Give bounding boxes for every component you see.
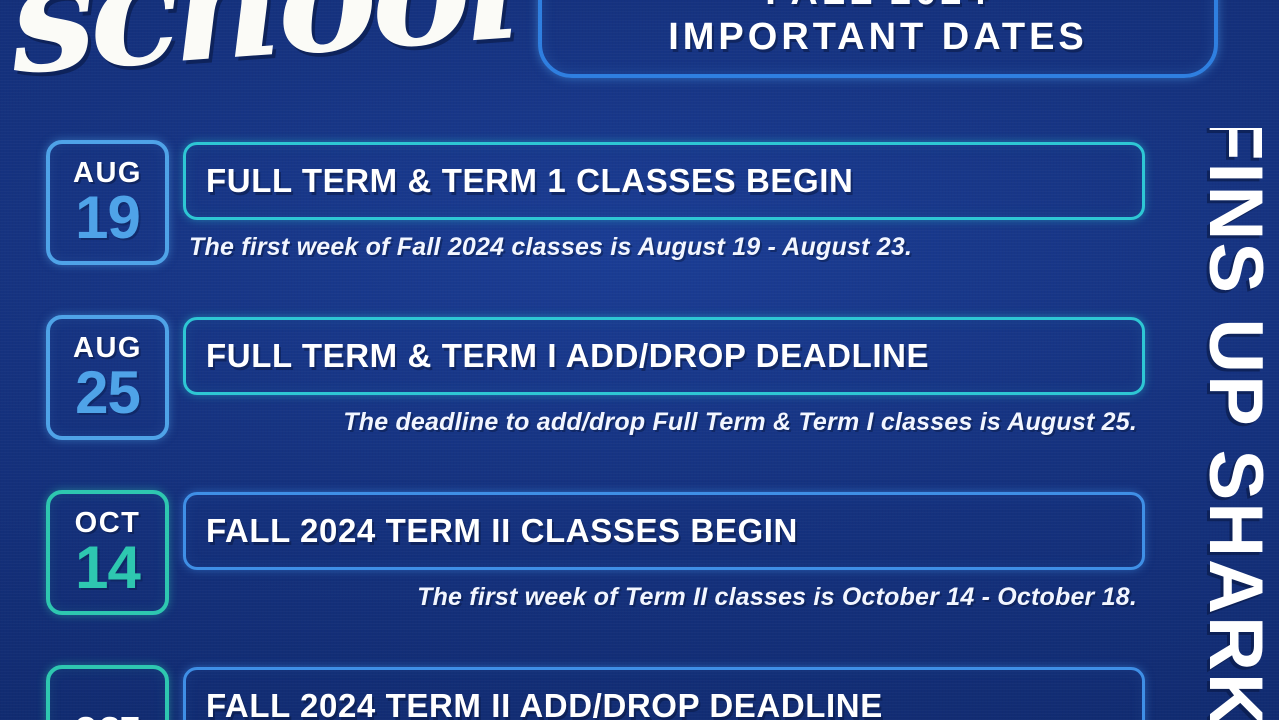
date-description: The first week of Fall 2024 classes is A… xyxy=(183,233,1145,262)
badge-day: 19 xyxy=(75,188,140,248)
date-row: OCT FALL 2024 TERM II ADD/DROP DEADLINE xyxy=(0,665,1145,720)
date-title: FALL 2024 TERM II CLASSES BEGIN xyxy=(206,512,798,550)
badge-day: 14 xyxy=(75,538,140,598)
vertical-slogan-area: FINS UP SHARKS xyxy=(1177,128,1279,720)
date-title-box: FULL TERM & TERM I ADD/DROP DEADLINE xyxy=(183,317,1145,395)
date-title-box: FULL TERM & TERM 1 CLASSES BEGIN xyxy=(183,142,1145,220)
header-line-subtitle: IMPORTANT DATES xyxy=(668,15,1088,60)
badge-month: AUG xyxy=(73,333,142,363)
vertical-slogan: FINS UP SHARKS xyxy=(1195,128,1275,720)
header-line-term: FALL 2024 xyxy=(765,0,990,15)
date-badge: OCT xyxy=(46,665,169,720)
badge-month: AUG xyxy=(73,158,142,188)
date-row-body: FULL TERM & TERM 1 CLASSES BEGIN The fir… xyxy=(183,140,1145,265)
date-title: FALL 2024 TERM II ADD/DROP DEADLINE xyxy=(206,687,883,720)
date-row-body: FALL 2024 TERM II CLASSES BEGIN The firs… xyxy=(183,490,1145,615)
date-badge: AUG 25 xyxy=(46,315,169,440)
date-row: AUG 19 FULL TERM & TERM 1 CLASSES BEGIN … xyxy=(0,140,1145,315)
poster-canvas: school FALL 2024 IMPORTANT DATES AUG 19 … xyxy=(0,0,1279,720)
date-badge: AUG 19 xyxy=(46,140,169,265)
date-row: AUG 25 FULL TERM & TERM I ADD/DROP DEADL… xyxy=(0,315,1145,490)
date-title-box: FALL 2024 TERM II CLASSES BEGIN xyxy=(183,492,1145,570)
date-title-box: FALL 2024 TERM II ADD/DROP DEADLINE xyxy=(183,667,1145,720)
script-heading-school: school xyxy=(4,0,487,120)
date-badge: OCT 14 xyxy=(46,490,169,615)
header-title-box: FALL 2024 IMPORTANT DATES xyxy=(538,0,1218,78)
date-description: The deadline to add/drop Full Term & Ter… xyxy=(183,408,1145,437)
badge-month: OCT xyxy=(75,508,141,538)
date-description: The first week of Term II classes is Oct… xyxy=(183,583,1145,612)
dates-list: AUG 19 FULL TERM & TERM 1 CLASSES BEGIN … xyxy=(0,140,1145,720)
badge-day: 25 xyxy=(75,363,140,423)
date-title: FULL TERM & TERM 1 CLASSES BEGIN xyxy=(206,162,853,200)
date-title: FULL TERM & TERM I ADD/DROP DEADLINE xyxy=(206,337,929,375)
badge-month: OCT xyxy=(75,713,141,720)
date-row-body: FULL TERM & TERM I ADD/DROP DEADLINE The… xyxy=(183,315,1145,440)
date-row: OCT 14 FALL 2024 TERM II CLASSES BEGIN T… xyxy=(0,490,1145,665)
date-row-body: FALL 2024 TERM II ADD/DROP DEADLINE xyxy=(183,665,1145,720)
